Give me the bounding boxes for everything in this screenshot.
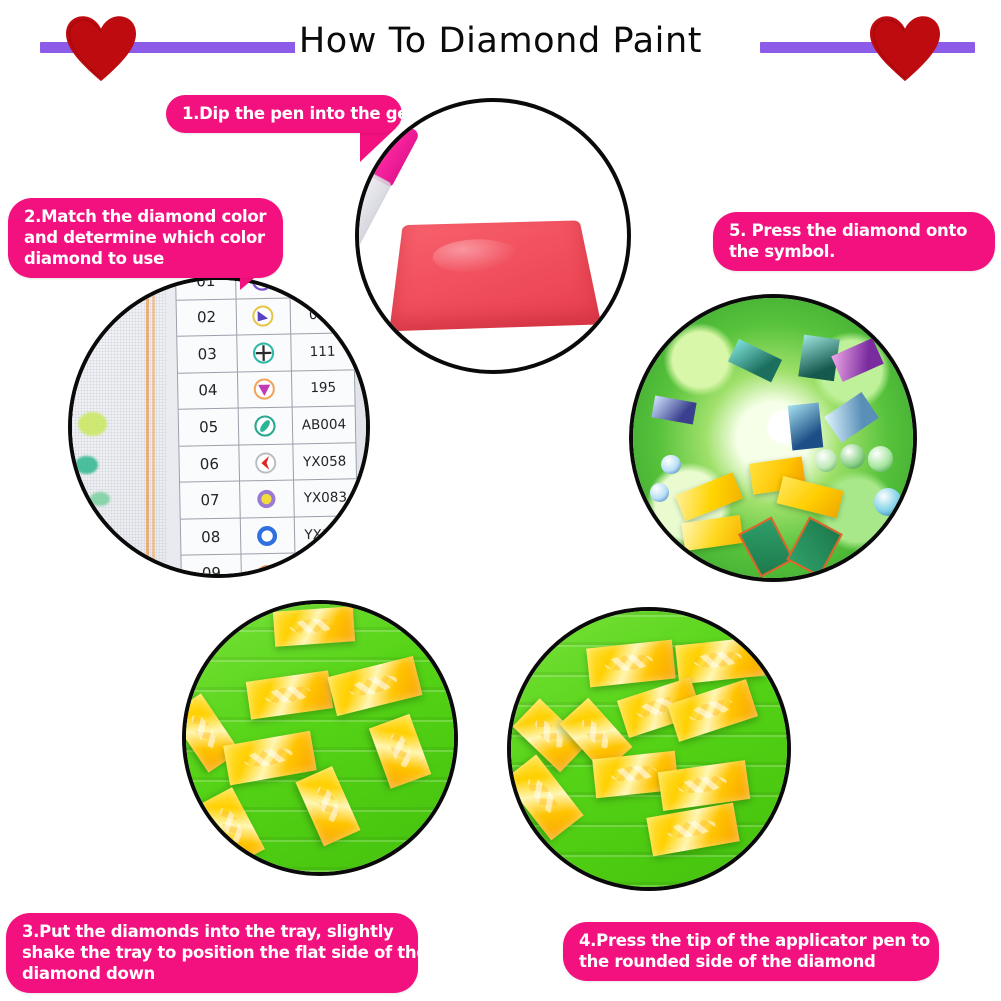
table-row: 03 111	[177, 334, 354, 374]
plus-cross-in-teal-circle-icon	[251, 340, 277, 366]
step-1-label-line-1: 1.Dip the pen into the gel	[182, 103, 386, 124]
row-number: 05	[178, 409, 239, 446]
table-row: 06 YX058	[179, 443, 356, 483]
row-code: YX083	[293, 480, 356, 517]
row-code: 111	[291, 334, 354, 371]
pen-body	[359, 167, 392, 260]
step-5-photo-inner	[633, 298, 913, 578]
row-symbol-cell	[241, 518, 295, 555]
table-row: 09 YX125	[181, 553, 358, 574]
step-3-photo	[182, 600, 458, 876]
step-3-label-line-2: shake the tray to position the flat side…	[22, 942, 402, 963]
row-code: YX106	[294, 516, 357, 553]
infographic-canvas: How To Diamond Paint 1.Dip the pen into …	[0, 0, 1001, 1001]
step-3-label: 3.Put the diamonds into the tray, slight…	[6, 913, 418, 993]
step-3-label-line-3: diamond down	[22, 963, 402, 984]
row-code: 195	[291, 370, 354, 407]
teal-leaf-with-orange-outline-icon	[255, 559, 281, 574]
step-1-label-tail	[360, 128, 396, 162]
table-row: 04 195	[178, 370, 355, 410]
magenta-triangle-in-orange-circle-icon	[251, 377, 277, 403]
row-code: 093	[290, 297, 353, 334]
paint-blob	[78, 412, 107, 436]
step-2-label-line-3: diamond to use	[24, 248, 267, 269]
step-5-label-line-2: the symbol.	[729, 241, 979, 262]
table-row: 08 YX106	[181, 516, 358, 556]
step-2-label-line-2: and determine which color	[24, 227, 267, 248]
table-row: 02 093	[176, 297, 353, 337]
row-number: 02	[176, 299, 237, 336]
table-row: 07 YX083	[180, 480, 357, 520]
round-gem	[661, 455, 681, 475]
step-4-label-line-2: the rounded side of the diamond	[579, 951, 923, 972]
chart-edge-line	[146, 280, 149, 574]
row-symbol-cell	[242, 554, 296, 574]
step-1-label: 1.Dip the pen into the gel	[166, 95, 402, 133]
step-2-label-line-1: 2.Match the diamond color	[24, 206, 267, 227]
row-code: YX125	[295, 553, 358, 574]
row-number: 08	[181, 519, 242, 556]
color-chart-photo: 01 020 02	[72, 280, 366, 574]
row-symbol-cell	[237, 335, 291, 372]
teal-slanted-ellipse-in-teal-circle-icon	[252, 413, 278, 439]
step-1-photo	[355, 98, 631, 374]
row-symbol-cell	[240, 481, 294, 518]
row-number: 01	[176, 280, 237, 300]
row-code: AB004	[292, 407, 355, 444]
color-symbol-table: 01 020 02	[175, 280, 360, 574]
row-code: YX058	[293, 443, 356, 480]
step-4-photo-inner	[511, 611, 787, 887]
step-3-label-line-1: 3.Put the diamonds into the tray, slight…	[22, 921, 402, 942]
step-2-photo: 01 020 02	[68, 276, 370, 578]
red-left-chevron-in-gray-circle-icon	[253, 450, 279, 476]
step-4-photo	[507, 607, 791, 891]
row-number: 04	[178, 373, 239, 410]
step-5-label-line-1: 5. Press the diamond onto	[729, 220, 979, 241]
diamond-gem	[273, 607, 356, 647]
page-title: How To Diamond Paint	[0, 19, 1001, 63]
step-1-photo-inner	[359, 102, 627, 370]
blue-open-ring-icon	[254, 523, 280, 549]
row-number: 06	[179, 446, 240, 483]
placed-gem	[788, 403, 823, 451]
row-symbol-cell	[237, 298, 291, 335]
step-3-photo-inner	[186, 604, 454, 872]
row-number: 09	[181, 555, 242, 574]
step-2-label: 2.Match the diamond color and determine …	[8, 198, 283, 278]
chart-edge-line	[152, 280, 155, 574]
yellow-dot-in-purple-ring-icon	[253, 486, 279, 512]
round-gem	[840, 444, 865, 469]
purple-triangle-in-yellow-circle-icon	[250, 303, 276, 329]
gel-pad	[389, 221, 601, 332]
table-row: 05 AB004	[178, 407, 355, 447]
row-code: 020	[289, 280, 352, 297]
step-4-label: 4.Press the tip of the applicator pen to…	[563, 922, 939, 981]
round-gem	[874, 488, 902, 516]
round-gem	[868, 446, 893, 471]
row-number: 03	[177, 336, 238, 373]
row-symbol-cell	[239, 445, 293, 482]
step-2-photo-inner: 01 020 02	[72, 280, 366, 574]
row-symbol-cell	[239, 408, 293, 445]
row-number: 07	[180, 482, 241, 519]
row-symbol-cell	[238, 372, 292, 409]
step-4-label-line-1: 4.Press the tip of the applicator pen to	[579, 930, 923, 951]
step-5-label: 5. Press the diamond onto the symbol.	[713, 212, 995, 271]
round-gem	[815, 449, 837, 471]
step-5-photo	[629, 294, 917, 582]
